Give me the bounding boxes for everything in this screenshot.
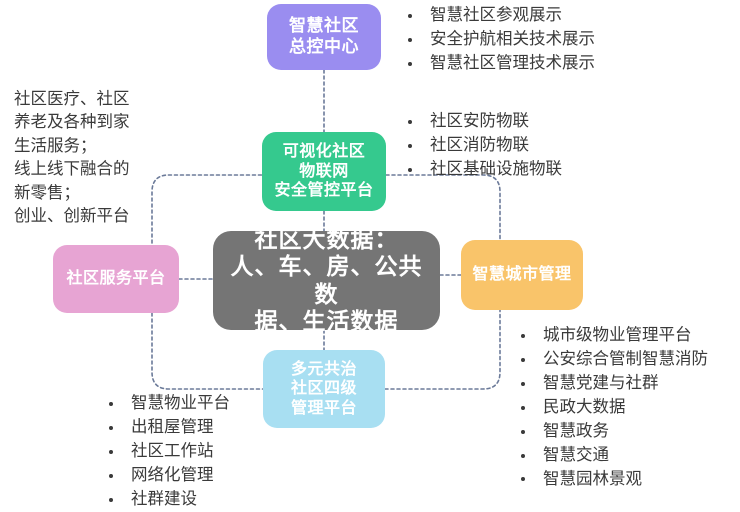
node-smart-city-management[interactable]: 智慧城市管理 [461, 240, 583, 310]
list-item: 安全护航相关技术展示 [404, 28, 595, 52]
annotation-line: 创业、创新平台 [14, 205, 130, 228]
list-item: 社区工作站 [105, 440, 230, 464]
node-community-service-platform[interactable]: 社区服务平台 [53, 245, 179, 313]
diagram-canvas: 社区大数据： 人、车、房、公共数 据、生活数据 智慧社区 总控中心 可视化社区 … [0, 0, 740, 512]
node-green-line-3: 安全管控平台 [274, 181, 373, 201]
list-item: 智慧园林景观 [517, 468, 708, 492]
node-bottom-line-1: 多元共治 [291, 360, 357, 380]
node-smart-community-control-center[interactable]: 智慧社区 总控中心 [267, 4, 381, 70]
annotation-line: 养老及各种到家 [14, 111, 130, 134]
node-top-line-1: 智慧社区 [289, 16, 359, 37]
annotation-text-community-service: 社区医疗、社区 养老及各种到家 生活服务； 线上线下融合的 新零售； 创业、创新… [14, 88, 130, 229]
list-item: 社区消防物联 [404, 134, 562, 158]
list-item: 社区基础设施物联 [404, 158, 562, 182]
node-top-line-2: 总控中心 [289, 37, 359, 58]
annotation-line: 社区医疗、社区 [14, 88, 130, 111]
annotation-list-iot: 社区安防物联 社区消防物联 社区基础设施物联 [404, 110, 562, 182]
annotation-line: 生活服务； [14, 135, 130, 158]
list-item: 社群建设 [105, 488, 230, 512]
node-visual-community-iot-platform[interactable]: 可视化社区 物联网 安全管控平台 [262, 132, 386, 211]
annotation-line: 线上线下融合的 [14, 158, 130, 181]
node-bottom-line-2: 社区四级 [291, 379, 357, 399]
node-left-line-1: 社区服务平台 [66, 269, 165, 289]
list-item: 城市级物业管理平台 [517, 324, 708, 348]
list-item: 公安综合管制智慧消防 [517, 348, 708, 372]
node-community-big-data[interactable]: 社区大数据： 人、车、房、公共数 据、生活数据 [213, 231, 440, 330]
node-multi-governance-four-level-platform[interactable]: 多元共治 社区四级 管理平台 [263, 350, 385, 428]
list-item: 网络化管理 [105, 464, 230, 488]
node-green-line-2: 物联网 [274, 162, 373, 182]
list-item: 社区安防物联 [404, 110, 562, 134]
node-bottom-line-3: 管理平台 [291, 399, 357, 419]
list-item: 智慧社区管理技术展示 [404, 52, 595, 76]
list-item: 智慧物业平台 [105, 392, 230, 416]
annotation-line: 新零售； [14, 182, 130, 205]
node-center-line-1: 社区大数据： [219, 226, 434, 253]
node-green-line-1: 可视化社区 [274, 142, 373, 162]
list-item: 智慧社区参观展示 [404, 4, 595, 28]
annotation-list-top: 智慧社区参观展示 安全护航相关技术展示 智慧社区管理技术展示 [404, 4, 595, 76]
list-item: 出租屋管理 [105, 416, 230, 440]
list-item: 智慧交通 [517, 444, 708, 468]
list-item: 智慧政务 [517, 420, 708, 444]
node-right-line-1: 智慧城市管理 [472, 265, 571, 285]
list-item: 民政大数据 [517, 396, 708, 420]
list-item: 智慧党建与社群 [517, 372, 708, 396]
annotation-list-governance: 智慧物业平台 出租屋管理 社区工作站 网络化管理 社群建设 [105, 392, 230, 512]
annotation-list-smart-city: 城市级物业管理平台 公安综合管制智慧消防 智慧党建与社群 民政大数据 智慧政务 … [517, 324, 708, 491]
node-center-line-3: 据、生活数据 [219, 308, 434, 335]
node-center-line-2: 人、车、房、公共数 [219, 253, 434, 307]
